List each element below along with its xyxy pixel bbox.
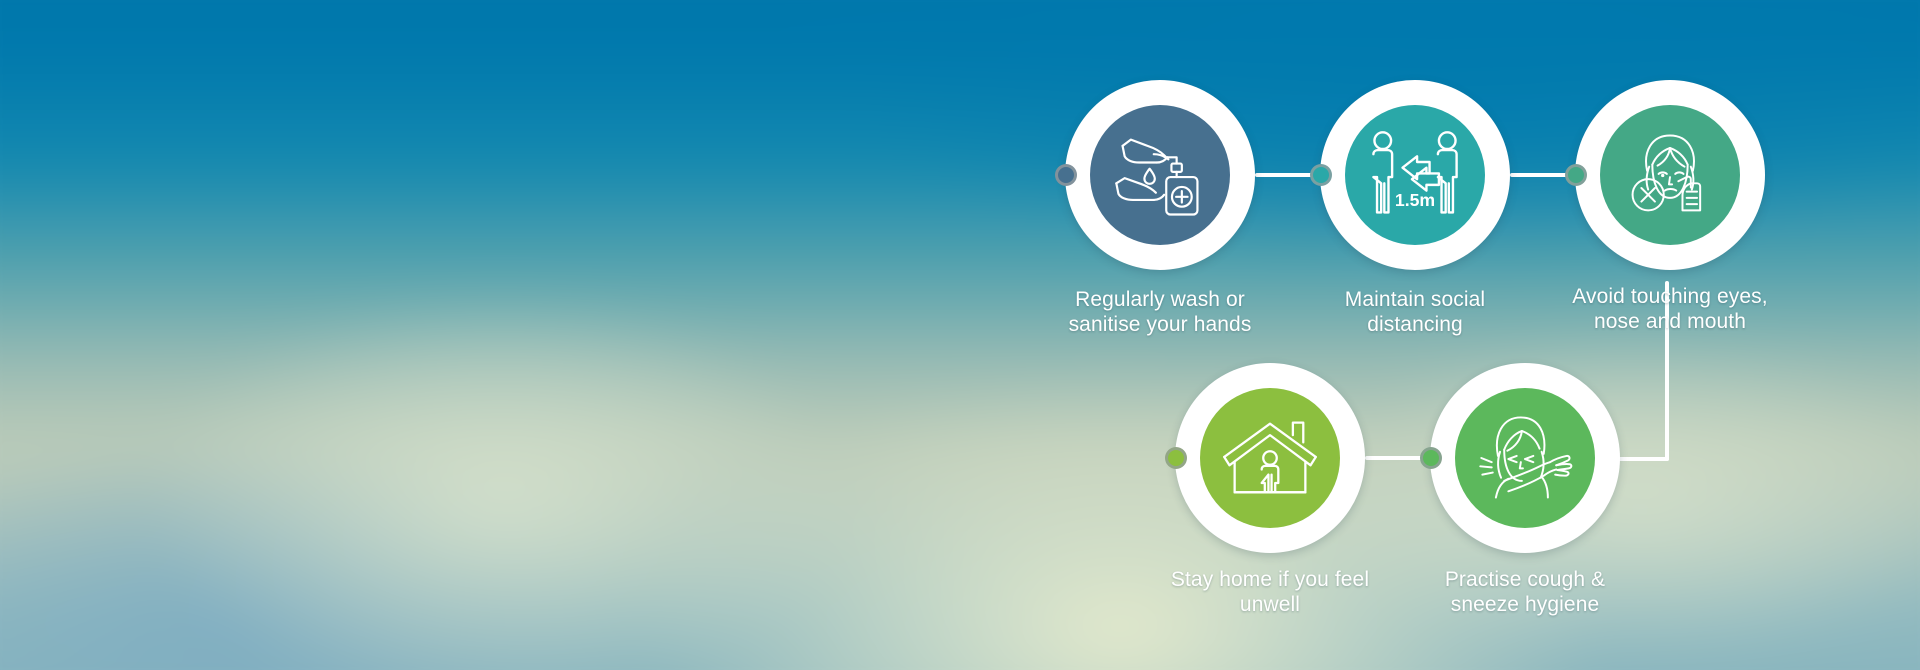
cough-into-elbow-icon	[1473, 406, 1577, 510]
connector-dot-avoid-touching-face	[1565, 164, 1587, 186]
step-node-cough-hygiene[interactable]	[1430, 363, 1620, 553]
social-distance-icon: 1.5m	[1363, 123, 1467, 227]
step-node-avoid-touching-face[interactable]	[1575, 80, 1765, 270]
caption-line-1: Avoid touching eyes,	[1520, 285, 1820, 310]
step-caption-cough-hygiene: Practise cough & sneeze hygiene	[1375, 568, 1675, 618]
connector-dot-cough-hygiene	[1420, 447, 1442, 469]
node-disc	[1200, 388, 1340, 528]
house-person-icon	[1218, 406, 1322, 510]
no-face-touching-icon	[1618, 123, 1722, 227]
step-caption-avoid-touching-face: Avoid touching eyes, nose and mouth	[1520, 285, 1820, 335]
step-node-social-distancing[interactable]: 1.5m	[1320, 80, 1510, 270]
distance-label: 1.5m	[1395, 190, 1435, 210]
node-disc	[1090, 105, 1230, 245]
connector-dot-wash-hands	[1055, 164, 1077, 186]
node-disc: 1.5m	[1345, 105, 1485, 245]
caption-line-2: sneeze hygiene	[1375, 593, 1675, 618]
caption-line-1: Practise cough &	[1375, 568, 1675, 593]
node-disc	[1455, 388, 1595, 528]
connector-dot-stay-home	[1165, 447, 1187, 469]
node-disc	[1600, 105, 1740, 245]
caption-line-2: nose and mouth	[1520, 310, 1820, 335]
hand-sanitiser-icon	[1108, 123, 1212, 227]
step-node-wash-hands[interactable]	[1065, 80, 1255, 270]
step-node-stay-home[interactable]	[1175, 363, 1365, 553]
safety-steps-flow: Regularly wash or sanitise your hands 1.…	[0, 0, 1920, 670]
connector-dot-social-distancing	[1310, 164, 1332, 186]
